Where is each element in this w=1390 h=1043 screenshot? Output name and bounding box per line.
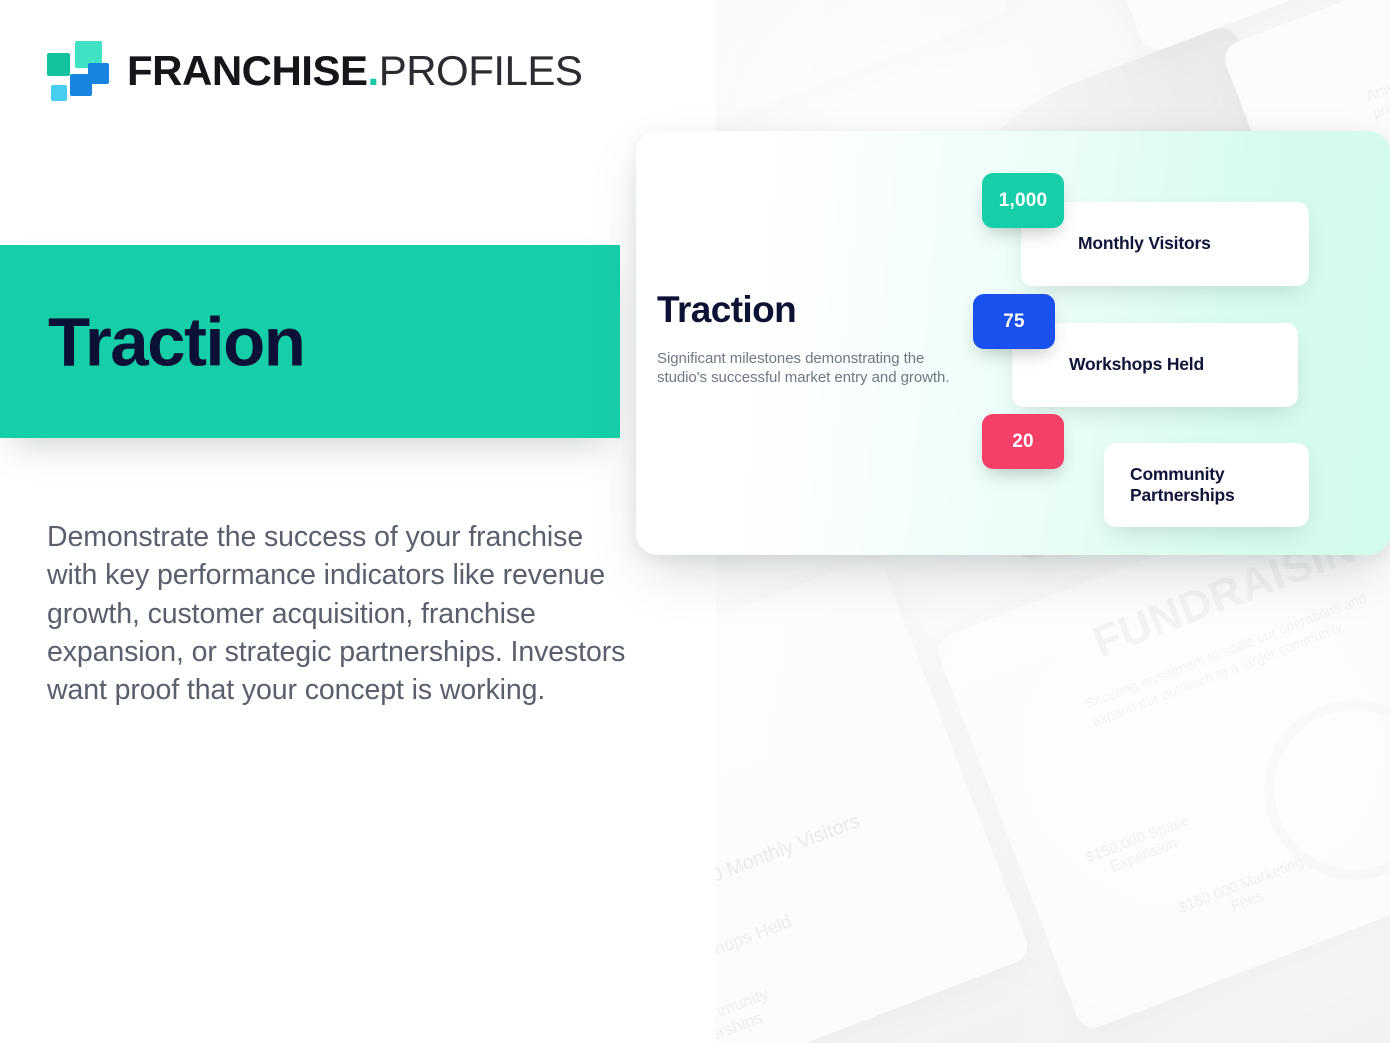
brand-logo[interactable]: FRANCHISE.PROFILES [47, 40, 582, 102]
metric-card[interactable]: Community Partnerships [1104, 443, 1309, 527]
brand-wordmark: FRANCHISE.PROFILES [127, 50, 582, 92]
brand-name-thin: PROFILES [379, 47, 583, 94]
background-slide-item: $150,000 Marketing Fees [1163, 849, 1325, 938]
section-banner: Traction [0, 245, 620, 438]
background-slide-item: 1,000 Monthly Visitors [715, 810, 863, 902]
page-title: Traction [48, 307, 304, 376]
scattered-squares-logo-icon [47, 40, 109, 102]
metric-label: Community Partnerships [1130, 464, 1309, 507]
preview-title: Traction [657, 291, 977, 328]
metric-label: Workshops Held [1069, 354, 1204, 375]
background-slide-subtitle: Artistic Expressions Studio through flex… [1363, 0, 1390, 123]
brand-name-dot: . [368, 47, 379, 94]
left-panel: FRANCHISE.PROFILES Traction Demonstrate … [0, 0, 716, 1043]
background-slide-item: 20 Community Partnerships [715, 955, 854, 1043]
metric-list: 1,000 Monthly Visitors 75 Workshops Held… [966, 131, 1390, 555]
traction-preview-card[interactable]: Traction Significant milestones demonstr… [636, 131, 1390, 555]
preview-description: Significant milestones demonstrating the… [657, 349, 957, 387]
metric-value-badge: 1,000 [982, 173, 1064, 228]
slide-canvas: Drop-In Fees Session Workshops Commissio… [0, 0, 1390, 1043]
background-slide-item: 75 Workshops Held [715, 911, 794, 987]
metric-label: Monthly Visitors [1078, 233, 1211, 254]
brand-name-bold: FRANCHISE [127, 47, 368, 94]
background-slide-item: $150,000 Space Expansion [1060, 803, 1222, 892]
metric-value-badge: 20 [982, 414, 1064, 469]
metric-card[interactable]: Monthly Visitors [1021, 202, 1309, 286]
preview-heading-block: Traction Significant milestones demonstr… [657, 291, 977, 387]
metric-value-badge: 75 [973, 294, 1055, 349]
section-paragraph: Demonstrate the success of your franchis… [47, 518, 627, 710]
